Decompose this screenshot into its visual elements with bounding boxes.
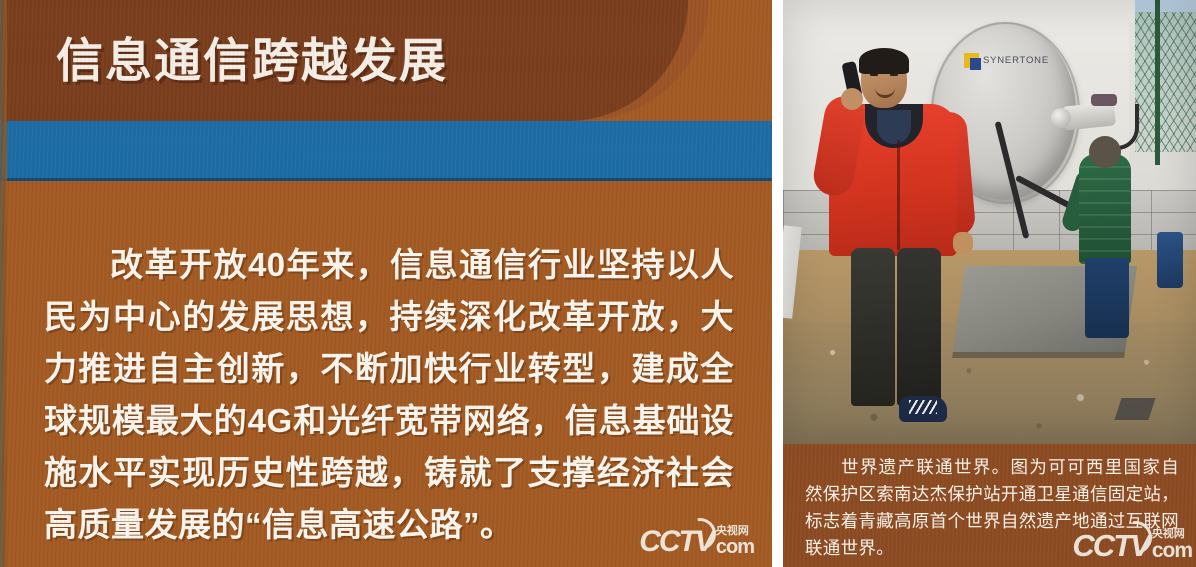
- satellite-dish-photo: SYNERTONE: [783, 0, 1196, 444]
- cctv-wordmark: CCTV: [1072, 530, 1148, 561]
- photo-caption-box: 世界遗产联通世界。图为可可西里国家自然保护区索南达杰保护站开通卫星通信固定站，标…: [783, 444, 1196, 567]
- infographic-stage: 信息通信跨越发展 改革开放40年来，信息通信行业坚持以人民为中心的发展思想，持续…: [0, 0, 1196, 567]
- accent-band: [0, 121, 772, 181]
- cctv-watermark-right: CCTV 央视网 com: [1072, 529, 1192, 561]
- right-photo-panel: SYNERTONE: [783, 0, 1196, 567]
- cctv-side-block: 央视网 com: [716, 526, 754, 557]
- cctv-com-label: com: [1152, 540, 1192, 561]
- left-text-panel: 信息通信跨越发展 改革开放40年来，信息通信行业坚持以人民为中心的发展思想，持续…: [0, 0, 772, 567]
- body-area: 改革开放40年来，信息通信行业坚持以人民为中心的发展思想，持续深化改革开放，大力…: [0, 181, 772, 567]
- cctv-watermark-left: CCTV 央视网 com: [639, 526, 754, 557]
- left-edge-shadow: [0, 0, 7, 567]
- cctv-side-block: 央视网 com: [1152, 529, 1192, 561]
- cctv-com-label: com: [716, 537, 754, 557]
- body-paragraph: 改革开放40年来，信息通信行业坚持以人民为中心的发展思想，持续深化改革开放，大力…: [44, 239, 734, 551]
- page-title: 信息通信跨越发展: [56, 22, 448, 91]
- cctv-wordmark: CCTV: [639, 527, 713, 557]
- photo-vignette: [783, 0, 1196, 444]
- title-band: 信息通信跨越发展: [0, 0, 772, 121]
